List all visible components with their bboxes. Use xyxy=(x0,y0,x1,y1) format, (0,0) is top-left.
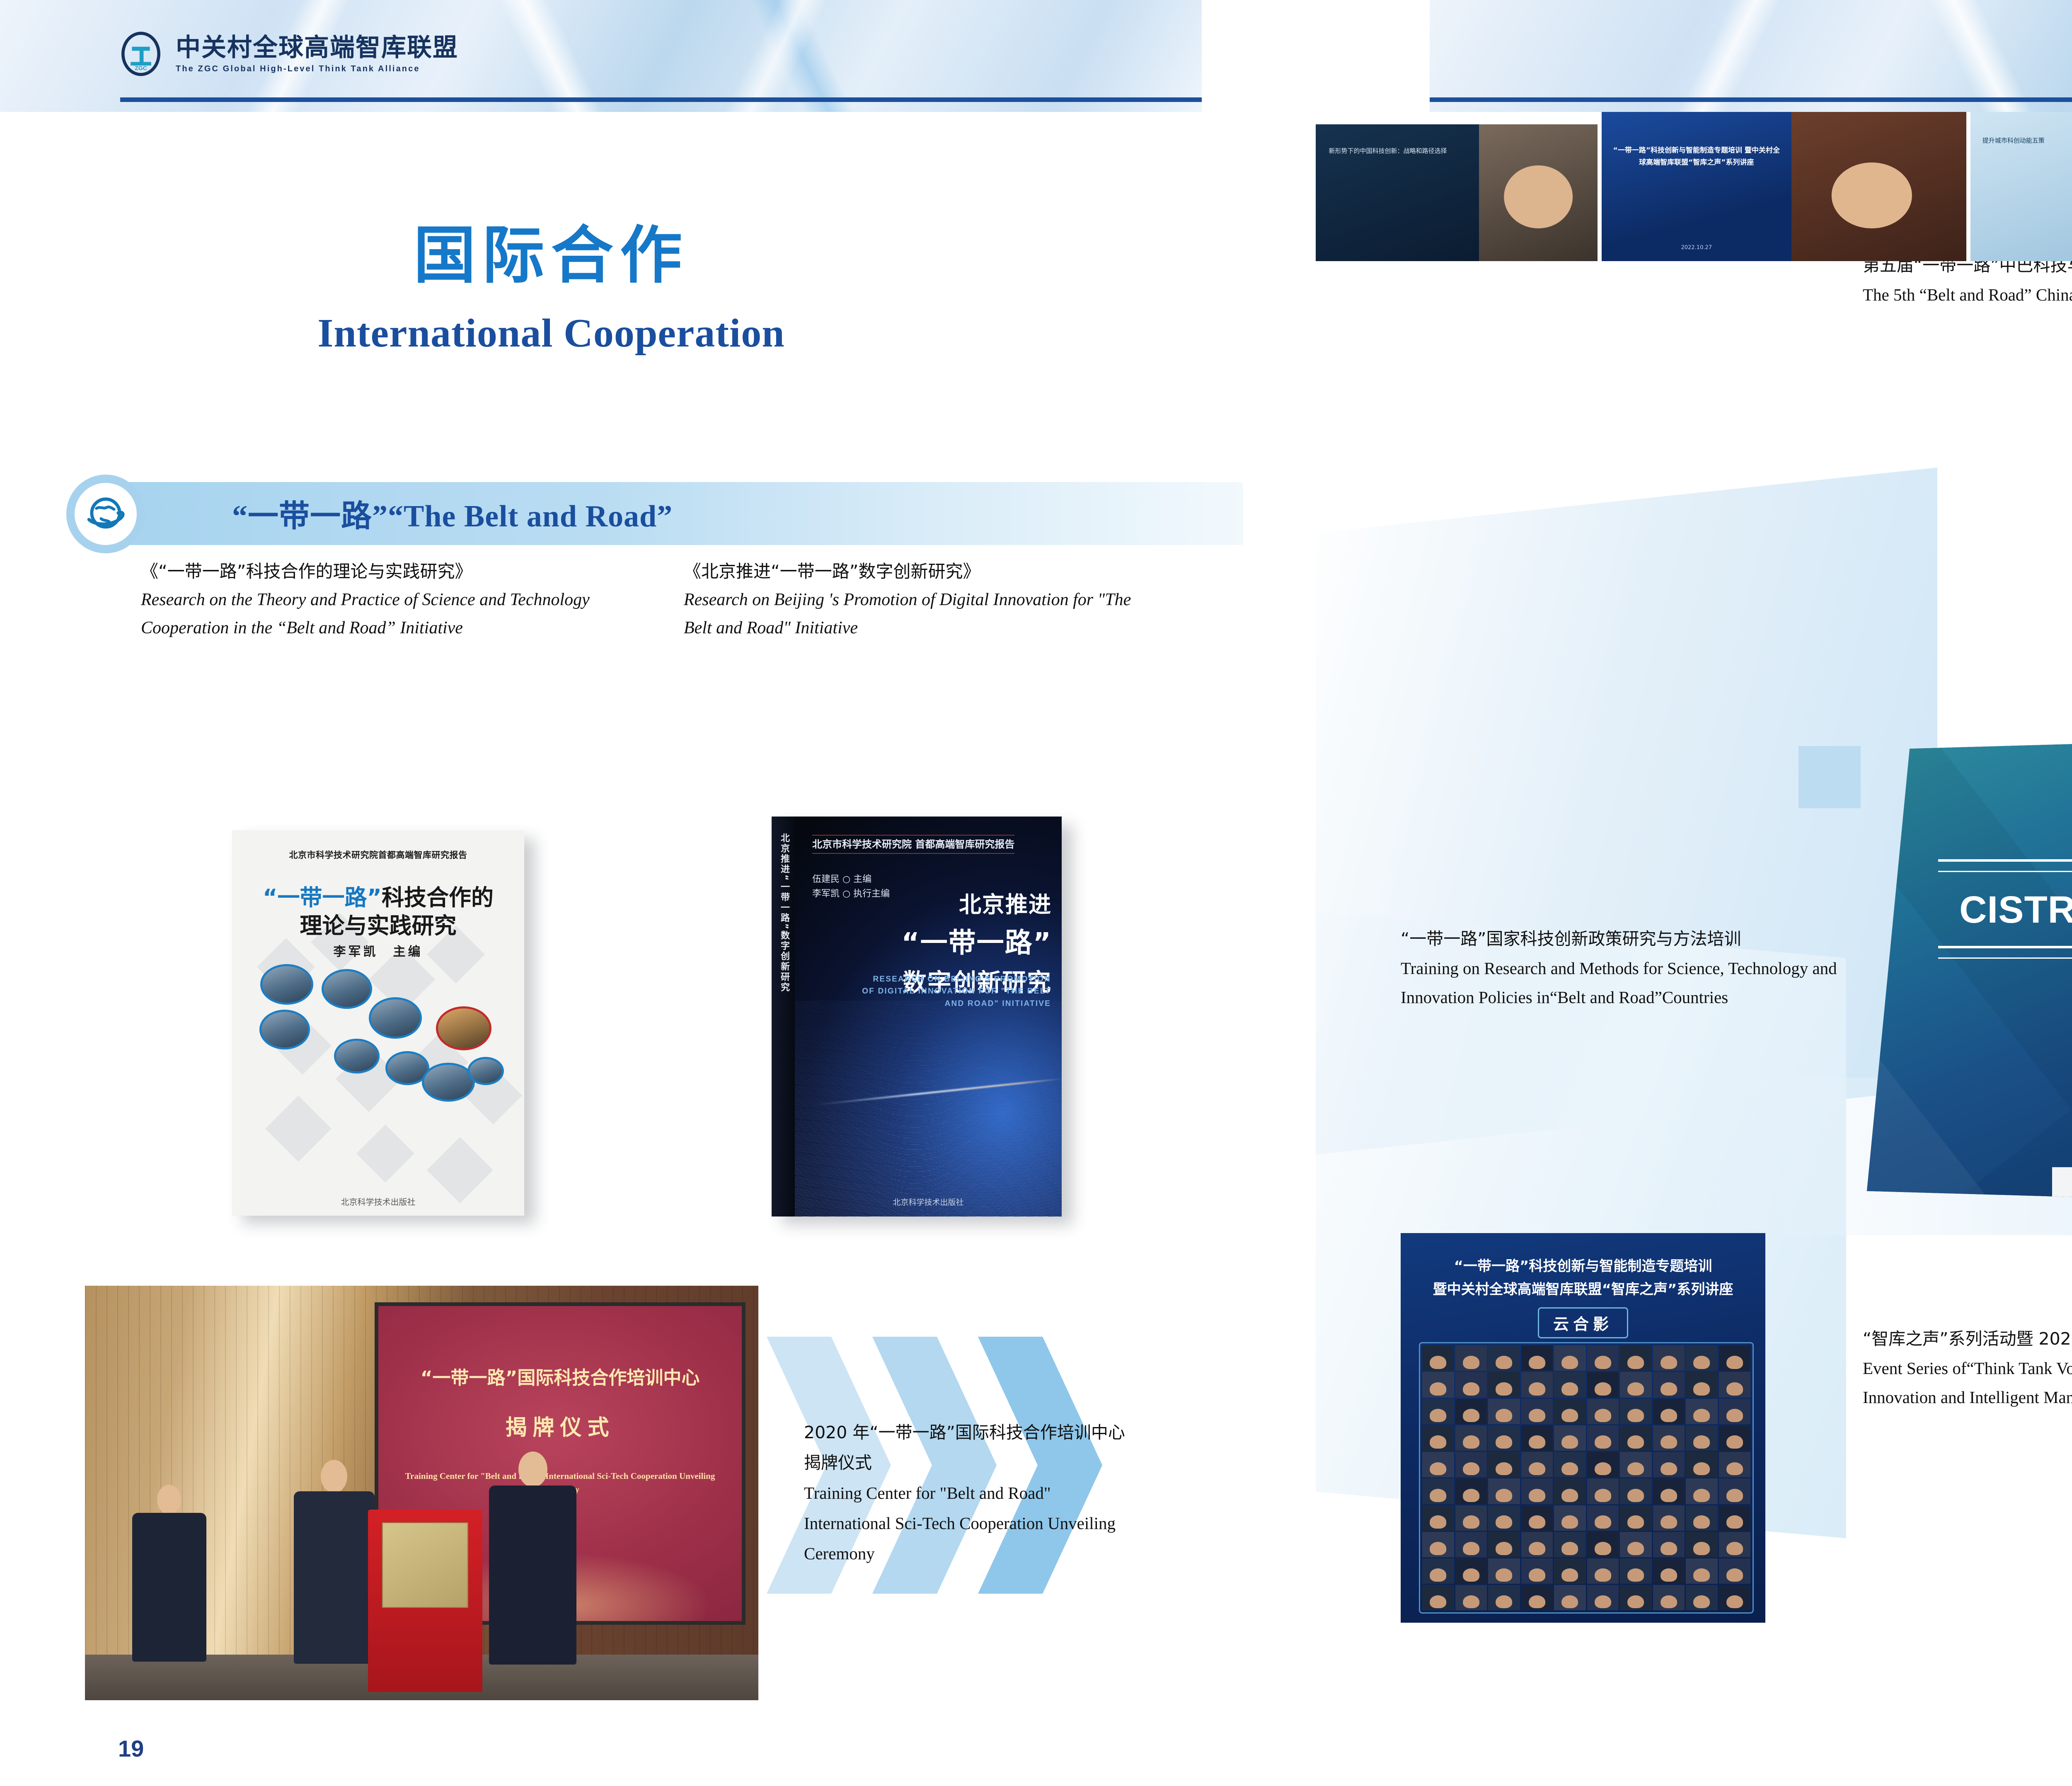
city-node-map xyxy=(249,961,508,1106)
participant-tile xyxy=(1521,1345,1553,1371)
thinktank-caption-cn: “智库之声”系列活动暨 2022“一带一路”科技创新与智能制造专题培训 xyxy=(1863,1324,2072,1354)
participant-tile xyxy=(1653,1558,1685,1584)
participant-tile xyxy=(1488,1345,1520,1371)
slide-title: 提升城市科创动能五策 xyxy=(1982,136,2072,145)
participant-tile xyxy=(1719,1585,1751,1610)
participant-tile xyxy=(1554,1585,1586,1610)
globe-icon xyxy=(66,475,145,553)
participant-tile xyxy=(1488,1505,1520,1531)
header-rule xyxy=(120,97,1202,102)
ceremony-photo: “一带一路”国际科技合作培训中心 揭牌仪式 Training Center fo… xyxy=(85,1286,758,1700)
participant-tile xyxy=(1587,1452,1619,1477)
participant-tile xyxy=(1422,1425,1454,1451)
brand-name-en: The ZGC Global High-Level Think Tank All… xyxy=(176,65,458,73)
participant-tile xyxy=(1587,1478,1619,1504)
participant-tile xyxy=(1422,1345,1454,1371)
participant-tile xyxy=(1719,1399,1751,1424)
participant-tile xyxy=(1620,1505,1652,1531)
plaque-stand xyxy=(368,1510,482,1692)
rule-bottom-1 xyxy=(1938,946,2072,948)
header-background xyxy=(1430,0,2072,112)
participant-tile xyxy=(1653,1345,1685,1371)
participant-tile xyxy=(1587,1425,1619,1451)
participant-tile xyxy=(1620,1585,1652,1610)
participant-tile xyxy=(1488,1558,1520,1584)
book-imprint: 北京市科学技术研究院 首都高端智库研究报告 xyxy=(812,835,1014,854)
participant-tile xyxy=(1554,1478,1586,1504)
book-title-line2: 理论与实践研究 xyxy=(232,907,524,940)
banner-date: 2022.10.27 xyxy=(1602,245,1791,251)
participant-grid xyxy=(1419,1342,1754,1614)
participant-tile xyxy=(1620,1452,1652,1477)
participant-tile xyxy=(1488,1452,1520,1477)
book-caption-cn: 《北京推进“一带一路”数字创新研究》 xyxy=(684,557,1140,586)
participant-tile xyxy=(1620,1399,1652,1424)
participant-tile xyxy=(1653,1399,1685,1424)
participant-tile xyxy=(1620,1478,1652,1504)
forum-caption-en: The 5th “Belt and Road” China-Pakistan S… xyxy=(1863,280,2072,310)
participant-tile xyxy=(1587,1399,1619,1424)
participant-tile xyxy=(1521,1478,1553,1504)
participant-tile xyxy=(1455,1532,1487,1557)
ceremony-caption-cn: 2020 年“一带一路”国际科技合作培训中心揭牌仪式 xyxy=(804,1418,1140,1478)
book-front-face: 北京市科学技术研究院 首都高端智库研究报告 伍建民 ○ 主编 李军凯 ○ 执行主… xyxy=(795,817,1062,1217)
book-title-line2: “一带一路” xyxy=(901,921,1052,960)
participant-tile xyxy=(1686,1585,1718,1610)
person-left xyxy=(132,1485,206,1675)
participant-tile xyxy=(1686,1505,1718,1531)
participant-tile xyxy=(1686,1558,1718,1584)
participant-tile xyxy=(1686,1425,1718,1451)
participant-tile xyxy=(1719,1452,1751,1477)
participant-tile xyxy=(1653,1478,1685,1504)
header-rule xyxy=(1430,97,2072,102)
participant-tile xyxy=(1719,1532,1751,1557)
svg-text:ZGC: ZGC xyxy=(135,65,147,71)
participant-tile xyxy=(1455,1585,1487,1610)
webinar-shot-1: 新形势下的中国科技创新：战略和路径选择 xyxy=(1316,124,1598,261)
participant-tile xyxy=(1719,1372,1751,1397)
screen-line2: 揭牌仪式 xyxy=(378,1410,742,1441)
participant-tile xyxy=(1719,1478,1751,1504)
header-left: ZGC 中关村全球高端智库联盟 The ZGC Global High-Leve… xyxy=(0,0,1202,112)
brochure-spread: ZGC 中关村全球高端智库联盟 The ZGC Global High-Leve… xyxy=(0,0,2072,1786)
participant-tile xyxy=(1554,1452,1586,1477)
slide: 新形势下的中国科技创新：战略和路径选择 xyxy=(1316,124,1479,261)
participant-tile xyxy=(1422,1452,1454,1477)
participant-tile xyxy=(1455,1399,1487,1424)
participant-tile xyxy=(1554,1558,1586,1584)
book-caption-2: 《北京推进“一带一路”数字创新研究》 Research on Beijing '… xyxy=(684,557,1140,642)
participant-tile xyxy=(1488,1478,1520,1504)
book-spine-text: 北京推进“一带一路”数字创新研究 xyxy=(776,833,791,993)
zgc-logo-icon: ZGC xyxy=(119,32,163,76)
brand-name-cn: 中关村全球高端智库联盟 xyxy=(176,35,458,60)
participant-tile xyxy=(1620,1532,1652,1557)
book-subtitle-en: RESEARCH ON BEIJING'S PROMOTION OF DIGIT… xyxy=(860,973,1051,1010)
participant-tile xyxy=(1653,1372,1685,1397)
participant-tile xyxy=(1455,1505,1487,1531)
book-publisher: 北京科学技术出版社 xyxy=(232,1195,524,1207)
participant-tile xyxy=(1422,1585,1454,1610)
cloud-line1: “一带一路”科技创新与智能制造专题培训 xyxy=(1401,1255,1765,1275)
section-band-label: “一带一路”“The Belt and Road” xyxy=(232,491,673,536)
ceremony-caption-en: Training Center for "Belt and Road" Inte… xyxy=(804,1478,1140,1569)
section-band: “一带一路”“The Belt and Road” xyxy=(66,475,1243,553)
thinktank-caption: “智库之声”系列活动暨 2022“一带一路”科技创新与智能制造专题培训 Even… xyxy=(1863,1324,2072,1412)
webinar-strip: 新形势下的中国科技创新：战略和路径选择 “一带一路”科技创新与智能制造专题培训 … xyxy=(1316,112,2072,261)
participant-tile xyxy=(1521,1558,1553,1584)
participant-tile xyxy=(1554,1425,1586,1451)
participant-tile xyxy=(1554,1372,1586,1397)
participant-tile xyxy=(1488,1399,1520,1424)
participant-tile xyxy=(1554,1505,1586,1531)
book-caption-en: Research on Beijing 's Promotion of Digi… xyxy=(684,586,1140,642)
book-editor-2: 李军凯 ○ 执行主编 xyxy=(812,887,890,901)
book-cover-2: 北京推进“一带一路”数字创新研究 北京市科学技术研究院 首都高端智库研究报告 伍… xyxy=(772,817,1062,1217)
participant-tile xyxy=(1719,1425,1751,1451)
cloud-line2: 暨中关村全球高端智库联盟“智库之声”系列讲座 xyxy=(1401,1278,1765,1298)
cistrat-banner-title: CISTRAT Training Workshop xyxy=(1867,888,2072,932)
participant-tile xyxy=(1422,1478,1454,1504)
participant-tile xyxy=(1719,1505,1751,1531)
training-caption-en: Training on Research and Methods for Sci… xyxy=(1401,954,1873,1012)
decor-square-1 xyxy=(1798,746,1861,808)
page-title-cn: 国际合作 xyxy=(0,205,1102,295)
participant-tile xyxy=(1521,1532,1553,1557)
participant-tile xyxy=(1455,1478,1487,1504)
participant-tile xyxy=(1620,1425,1652,1451)
participant-tile xyxy=(1422,1558,1454,1584)
page-number-left: 19 xyxy=(118,1735,144,1762)
participant-tile xyxy=(1521,1585,1553,1610)
participant-tile xyxy=(1686,1478,1718,1504)
thinktank-caption-en: Event Series of“Think Tank Voices”and 20… xyxy=(1863,1354,2072,1412)
plaque xyxy=(382,1522,468,1608)
participant-tile xyxy=(1653,1505,1685,1531)
participant-tile xyxy=(1620,1558,1652,1584)
book-imprint: 北京市科学技术研究院首都高端智库研究报告 xyxy=(232,848,524,861)
wave-graphic xyxy=(795,1001,1062,1217)
participant-tile xyxy=(1587,1345,1619,1371)
book-cover-1: 北京市科学技术研究院首都高端智库研究报告 “一带一路”科技合作的 理论与实践研究… xyxy=(232,830,524,1216)
participant-tile xyxy=(1686,1345,1718,1371)
book-title-rest: 科技合作的 xyxy=(382,885,494,911)
participant-tile xyxy=(1653,1532,1685,1557)
participant-tile xyxy=(1554,1345,1586,1371)
book-editor: 李军凯 主编 xyxy=(232,941,524,960)
training-caption-cn: “一带一路”国家科技创新政策研究与方法培训 xyxy=(1401,924,1873,954)
participant-tile xyxy=(1587,1532,1619,1557)
participant-tile xyxy=(1653,1452,1685,1477)
participant-tile xyxy=(1686,1372,1718,1397)
person-center xyxy=(294,1460,375,1675)
participant-tile xyxy=(1455,1372,1487,1397)
participant-tile xyxy=(1587,1558,1619,1584)
participant-tile xyxy=(1455,1558,1487,1584)
speaker-face xyxy=(1479,124,1598,261)
rule-top-2 xyxy=(1938,871,2072,872)
webinar-shot-2: “一带一路”科技创新与智能制造专题培训 暨中关村全球高端智库联盟“智库之声”系列… xyxy=(1602,112,1966,261)
participant-tile xyxy=(1455,1452,1487,1477)
person-right xyxy=(489,1452,576,1675)
participant-tile xyxy=(1488,1372,1520,1397)
participant-tile xyxy=(1719,1558,1751,1584)
training-caption: “一带一路”国家科技创新政策研究与方法培训 Training on Resear… xyxy=(1401,924,1873,1012)
participant-tile xyxy=(1587,1505,1619,1531)
participant-tile xyxy=(1422,1505,1454,1531)
rule-top-1 xyxy=(1938,859,2072,862)
book-spine: 北京推进“一带一路”数字创新研究 xyxy=(772,817,796,1217)
book-caption-1: 《“一带一路”科技合作的理论与实践研究》 Research on the The… xyxy=(141,557,622,642)
participant-tile xyxy=(1554,1399,1586,1424)
book-editor-1: 伍建民 ○ 主编 xyxy=(812,872,890,887)
book-title-line1: 北京推进 xyxy=(901,886,1052,919)
slide: 提升城市科创动能五策 xyxy=(1970,112,2072,261)
left-page: 国际合作 International Cooperation “一带一路”“Th… xyxy=(0,112,1316,1786)
book-title-quote: “一带一路” xyxy=(263,885,382,911)
slide-title: 新形势下的中国科技创新：战略和路径选择 xyxy=(1329,146,1466,156)
speaker-room xyxy=(1791,112,1966,261)
participant-tile xyxy=(1521,1425,1553,1451)
rule-bottom-2 xyxy=(1938,957,2072,959)
participant-tile xyxy=(1653,1585,1685,1610)
participant-tile xyxy=(1521,1452,1553,1477)
cloud-group-photo: “一带一路”科技创新与智能制造专题培训 暨中关村全球高端智库联盟“智库之声”系列… xyxy=(1401,1233,1765,1623)
participant-tile xyxy=(1554,1532,1586,1557)
participant-tile xyxy=(1521,1399,1553,1424)
participant-tile xyxy=(1488,1585,1520,1610)
ceremony-caption: 2020 年“一带一路”国际科技合作培训中心揭牌仪式 Training Cent… xyxy=(804,1418,1140,1569)
participant-tile xyxy=(1587,1585,1619,1610)
book-publisher: 北京科学技术出版社 xyxy=(795,1196,1062,1207)
book-caption-cn: 《“一带一路”科技合作的理论与实践研究》 xyxy=(141,557,622,586)
event-banner: “一带一路”科技创新与智能制造专题培训 暨中关村全球高端智库联盟“智库之声”系列… xyxy=(1602,112,1791,261)
participant-tile xyxy=(1422,1372,1454,1397)
participant-tile xyxy=(1521,1372,1553,1397)
participant-tile xyxy=(1686,1399,1718,1424)
book-caption-en: Research on the Theory and Practice of S… xyxy=(141,586,622,642)
participant-tile xyxy=(1587,1372,1619,1397)
cloud-label: 云合影 xyxy=(1538,1307,1628,1338)
participant-tile xyxy=(1686,1532,1718,1557)
participant-tile xyxy=(1455,1345,1487,1371)
participant-tile xyxy=(1455,1425,1487,1451)
participant-tile xyxy=(1686,1452,1718,1477)
participant-tile xyxy=(1488,1425,1520,1451)
right-page: 第五届“一带一路”中巴科技与经济合作论坛 The 5th “Belt and R… xyxy=(1316,112,2072,1786)
header-right: ZGC 中关村全球高端智库联盟 The ZGC Global High-Leve… xyxy=(1430,0,2072,112)
participant-tile xyxy=(1422,1532,1454,1557)
banner-title: “一带一路”科技创新与智能制造专题培训 暨中关村全球高端智库联盟“智库之声”系列… xyxy=(1613,145,1780,169)
participant-tile xyxy=(1521,1505,1553,1531)
book-editors: 伍建民 ○ 主编 李军凯 ○ 执行主编 xyxy=(812,872,890,901)
participant-tile xyxy=(1719,1345,1751,1371)
participant-tile xyxy=(1488,1532,1520,1557)
participant-tile xyxy=(1620,1345,1652,1371)
participant-tile xyxy=(1422,1399,1454,1424)
participant-tile xyxy=(1620,1372,1652,1397)
participant-tile xyxy=(1653,1425,1685,1451)
page-title-en: International Cooperation xyxy=(0,310,1102,356)
webinar-shot-3: 提升城市科创动能五策 xyxy=(1970,112,2072,261)
screen-line1: “一带一路”国际科技合作培训中心 xyxy=(378,1363,742,1389)
